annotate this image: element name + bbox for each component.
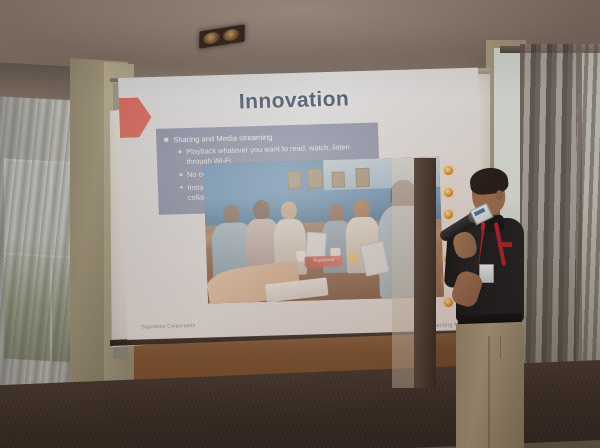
square-bullet-icon <box>164 138 168 142</box>
slide-footer-left: Gigastone Corporation <box>141 323 196 331</box>
dot-bullet-icon <box>180 186 183 189</box>
dot-bullet-icon <box>179 173 182 176</box>
presenter-ear <box>496 190 503 200</box>
dot-bullet-icon <box>179 151 182 154</box>
spotlight-lamp-left <box>203 31 220 45</box>
background-door-frame <box>414 158 436 388</box>
presenter-pants-pocket <box>500 336 517 358</box>
presenter <box>432 160 572 448</box>
presenter-pants-crease <box>488 336 490 448</box>
slide-bullet-text: Sharing and Media streaming <box>173 133 273 145</box>
accent-light-icon <box>444 298 453 307</box>
accent-light-icon <box>444 210 453 219</box>
slide-accent-flag-icon <box>118 97 152 138</box>
right-curtain-outer <box>576 44 600 394</box>
spotlight-lamp-right <box>223 28 240 42</box>
accent-light-icon <box>444 166 453 175</box>
conference-room-photo: Innovation Sharing and Media streaming P… <box>0 0 600 448</box>
slide-title: Innovation <box>239 87 350 114</box>
accent-light-icon <box>444 188 453 197</box>
background-wall-panel <box>392 158 416 388</box>
